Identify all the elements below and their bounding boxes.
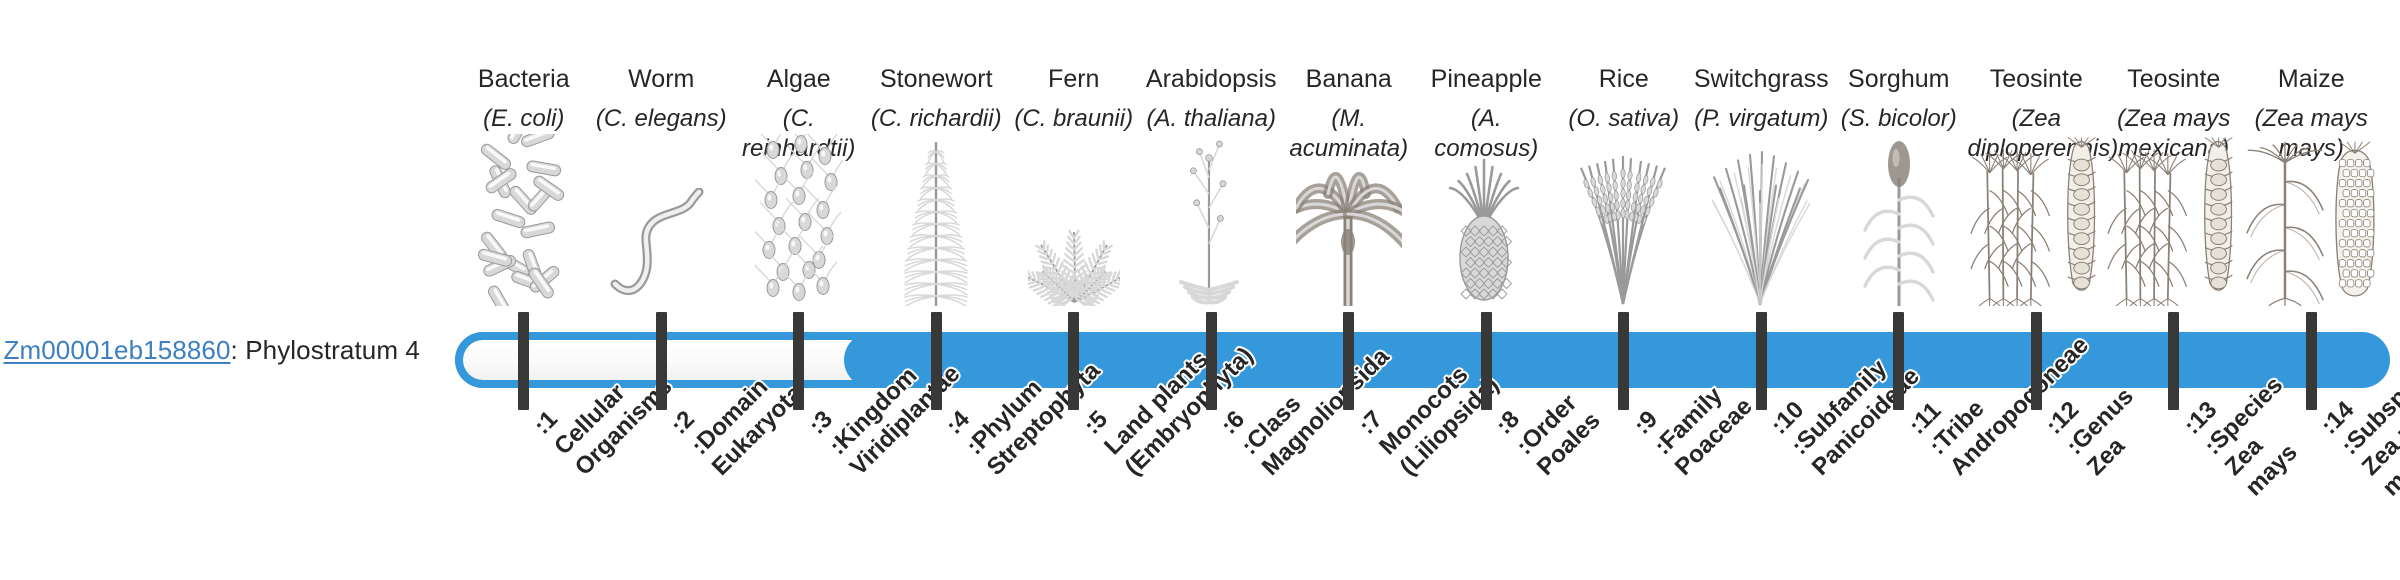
species-common-name: Sorghum — [1830, 64, 1968, 94]
phylostratum-tick-1[interactable] — [518, 312, 529, 410]
phylostratum-tick-13[interactable] — [2168, 312, 2179, 410]
gene-label-separator: : — [231, 335, 246, 365]
phylostratum-column-4[interactable]: Stonewort(C. richardii) — [868, 0, 1006, 580]
species-illustration-worm — [593, 168, 731, 306]
species-illustration-maize — [2243, 168, 2381, 306]
phylostratum-tick-4[interactable] — [931, 312, 942, 410]
species-latin-name: (C. elegans) — [593, 104, 731, 134]
species-common-name: Algae — [730, 64, 868, 94]
species-common-name: Banana — [1280, 64, 1418, 94]
phylostratum-column-8[interactable]: Pineapple(A. comosus) — [1418, 0, 1556, 580]
phylostratum-column-1[interactable]: Bacteria(E. coli) — [455, 0, 593, 580]
species-illustration-sorghum — [1830, 168, 1968, 306]
phylostratum-column-9[interactable]: Rice(O. sativa) — [1555, 0, 1693, 580]
species-illustration-teosinte — [1968, 168, 2106, 306]
species-illustration-stonewort — [868, 168, 1006, 306]
phylostratum-tick-7[interactable] — [1343, 312, 1354, 410]
phylostratum-column-5[interactable]: Fern(C. braunii) — [1005, 0, 1143, 580]
phylostratum-column-12[interactable]: Teosinte(Zea diploperennis) — [1968, 0, 2106, 580]
phylostratum-tick-3[interactable] — [793, 312, 804, 410]
phylostratum-columns: Bacteria(E. coli)1: Cellular OrganismsWo… — [455, 0, 2380, 580]
species-common-name: Switchgrass — [1693, 64, 1831, 94]
species-common-name: Teosinte — [1968, 64, 2106, 94]
phylostratum-tick-9[interactable] — [1618, 312, 1629, 410]
species-illustration-bacteria — [455, 168, 593, 306]
species-latin-name: (C. richardii) — [868, 104, 1006, 134]
species-latin-name: (P. virgatum) — [1693, 104, 1831, 134]
phylostratum-column-10[interactable]: Switchgrass(P. virgatum) — [1693, 0, 1831, 580]
phylostratum-tick-2[interactable] — [656, 312, 667, 410]
species-latin-name: (A. thaliana) — [1143, 104, 1281, 134]
species-illustration-rice — [1555, 168, 1693, 306]
phylostratum-column-6[interactable]: Arabidopsis(A. thaliana) — [1143, 0, 1281, 580]
phylostratum-tick-8[interactable] — [1481, 312, 1492, 410]
species-common-name: Maize — [2243, 64, 2381, 94]
species-illustration-algae — [730, 168, 868, 306]
gene-label: Zm00001eb158860: Phylostratum 4 — [0, 334, 420, 366]
phylostratum-column-7[interactable]: Banana(M. acuminata) — [1280, 0, 1418, 580]
species-illustration-arabidopsis — [1143, 168, 1281, 306]
phylostratum-column-11[interactable]: Sorghum(S. bicolor) — [1830, 0, 1968, 580]
phylostratum-column-3[interactable]: Algae(C. reinhardtii) — [730, 0, 868, 580]
species-illustration-banana — [1280, 168, 1418, 306]
phylostratum-value-text: Phylostratum 4 — [245, 335, 420, 365]
species-common-name: Worm — [593, 64, 731, 94]
species-latin-name: (C. braunii) — [1005, 104, 1143, 134]
species-latin-name: (O. sativa) — [1555, 104, 1693, 134]
phylostratum-column-13[interactable]: Teosinte(Zea mays mexicana) — [2105, 0, 2243, 580]
phylostratum-tick-11[interactable] — [1893, 312, 1904, 410]
phylostratum-figure: Zm00001eb158860: Phylostratum 4 Bacteria… — [0, 0, 2400, 580]
phylostratum-tick-5[interactable] — [1068, 312, 1079, 410]
species-common-name: Arabidopsis — [1143, 64, 1281, 94]
species-common-name: Pineapple — [1418, 64, 1556, 94]
phylostratum-tick-12[interactable] — [2031, 312, 2042, 410]
species-common-name: Bacteria — [455, 64, 593, 94]
species-latin-name: (E. coli) — [455, 104, 593, 134]
species-common-name: Rice — [1555, 64, 1693, 94]
species-latin-name: (S. bicolor) — [1830, 104, 1968, 134]
phylostratum-tick-14[interactable] — [2306, 312, 2317, 410]
species-illustration-teosinte — [2105, 168, 2243, 306]
phylostratum-tick-10[interactable] — [1756, 312, 1767, 410]
phylostratum-column-2[interactable]: Worm(C. elegans) — [593, 0, 731, 580]
species-illustration-fern — [1005, 168, 1143, 306]
species-common-name: Stonewort — [868, 64, 1006, 94]
species-illustration-pineapple — [1418, 168, 1556, 306]
phylostratum-tick-6[interactable] — [1206, 312, 1217, 410]
species-common-name: Fern — [1005, 64, 1143, 94]
gene-id-link[interactable]: Zm00001eb158860 — [4, 335, 231, 365]
species-common-name: Teosinte — [2105, 64, 2243, 94]
species-illustration-switchgrass — [1693, 168, 1831, 306]
